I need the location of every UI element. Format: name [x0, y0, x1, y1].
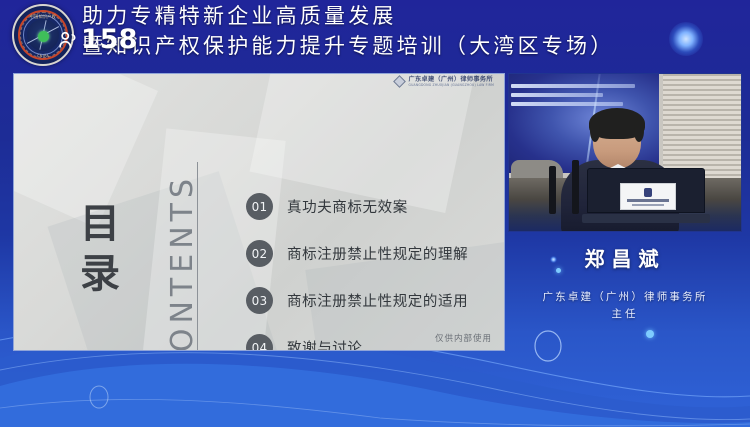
backdrop-text-line — [511, 84, 635, 88]
list-item-number: 03 — [246, 287, 273, 314]
laptop-name-card — [620, 183, 676, 210]
speaker-hair — [589, 108, 645, 139]
speaker-role: 主任 — [508, 306, 742, 321]
list-item-number: 04 — [246, 334, 273, 351]
viewer-person-icon — [57, 29, 79, 51]
law-firm-emblem-icon — [394, 75, 407, 88]
event-title: 助力专精特新企业高质量发展 暨知识产权保护能力提升专题培训（大湾区专场） — [82, 6, 614, 57]
slide-contents-list: 01 真功夫商标无效案 02 商标注册禁止性规定的理解 03 商标注册禁止性规定… — [246, 192, 468, 351]
name-card-line-1 — [627, 199, 669, 202]
backdrop-text-line — [511, 102, 623, 106]
event-header: 中国知识产权 CNIPA 助力专精特新企业高质量发展 暨知识产权保护能力提升专题… — [0, 0, 750, 72]
name-card-emblem-icon — [644, 188, 652, 197]
list-item-label: 真功夫商标无效案 — [287, 196, 408, 217]
speaker-organization: 广东卓建（广州）律师事务所 — [508, 288, 742, 306]
list-item: 03 商标注册禁止性规定的适用 — [246, 286, 468, 315]
laptop-lid — [587, 168, 705, 213]
name-card-line-2 — [632, 204, 664, 206]
speaker-video-feed[interactable] — [508, 73, 742, 232]
microphone-left — [549, 166, 556, 214]
livestream-screenshot: 中国知识产权 CNIPA 助力专精特新企业高质量发展 暨知识产权保护能力提升专题… — [0, 0, 750, 427]
slide-title-en: CONTENTS — [165, 174, 200, 351]
speaker-name: 郑昌斌 — [508, 243, 742, 272]
slide-divider — [197, 162, 198, 351]
list-item-number: 02 — [246, 240, 273, 267]
law-firm-name-en: GUANGDONG ZHUOJIAN (GUANGZHOU) LAW FIRM — [408, 84, 494, 87]
list-item-number: 01 — [246, 193, 273, 220]
viewer-count-value: 158 — [81, 26, 137, 53]
decor-dot-2 — [646, 330, 654, 338]
list-item-label: 商标注册禁止性规定的适用 — [287, 290, 468, 311]
list-item: 02 商标注册禁止性规定的理解 — [246, 239, 468, 268]
emblem-center-dot — [38, 31, 49, 42]
event-title-line-2: 暨知识产权保护能力提升专题培训（大湾区专场） — [82, 36, 614, 57]
laptop — [587, 168, 705, 223]
list-item-label: 商标注册禁止性规定的理解 — [287, 243, 468, 264]
speaker-caption: 郑昌斌 广东卓建（广州）律师事务所 主任 — [508, 243, 742, 321]
list-item-label: 致谢与讨论 — [287, 337, 363, 351]
microphone-right — [572, 160, 579, 214]
law-firm-logo: 广东卓建（广州）律师事务所 GUANGDONG ZHUOJIAN (GUANGZ… — [395, 77, 494, 87]
slide-title-cn: 目录 — [76, 202, 116, 302]
event-title-line-1: 助力专精特新企业高质量发展 — [82, 6, 614, 27]
presentation-slide[interactable]: 广东卓建（广州）律师事务所 GUANGDONG ZHUOJIAN (GUANGZ… — [13, 73, 505, 351]
slide-footer-note: 仅供内部使用 — [435, 332, 492, 344]
viewer-count-overlay: 158 — [57, 26, 137, 53]
emblem-bottom-text: CNIPA — [14, 54, 72, 58]
list-item: 01 真功夫商标无效案 — [246, 192, 468, 221]
laptop-base — [582, 214, 710, 223]
emblem-top-text: 中国知识产权 — [14, 14, 72, 20]
backdrop-text-line — [511, 93, 603, 97]
